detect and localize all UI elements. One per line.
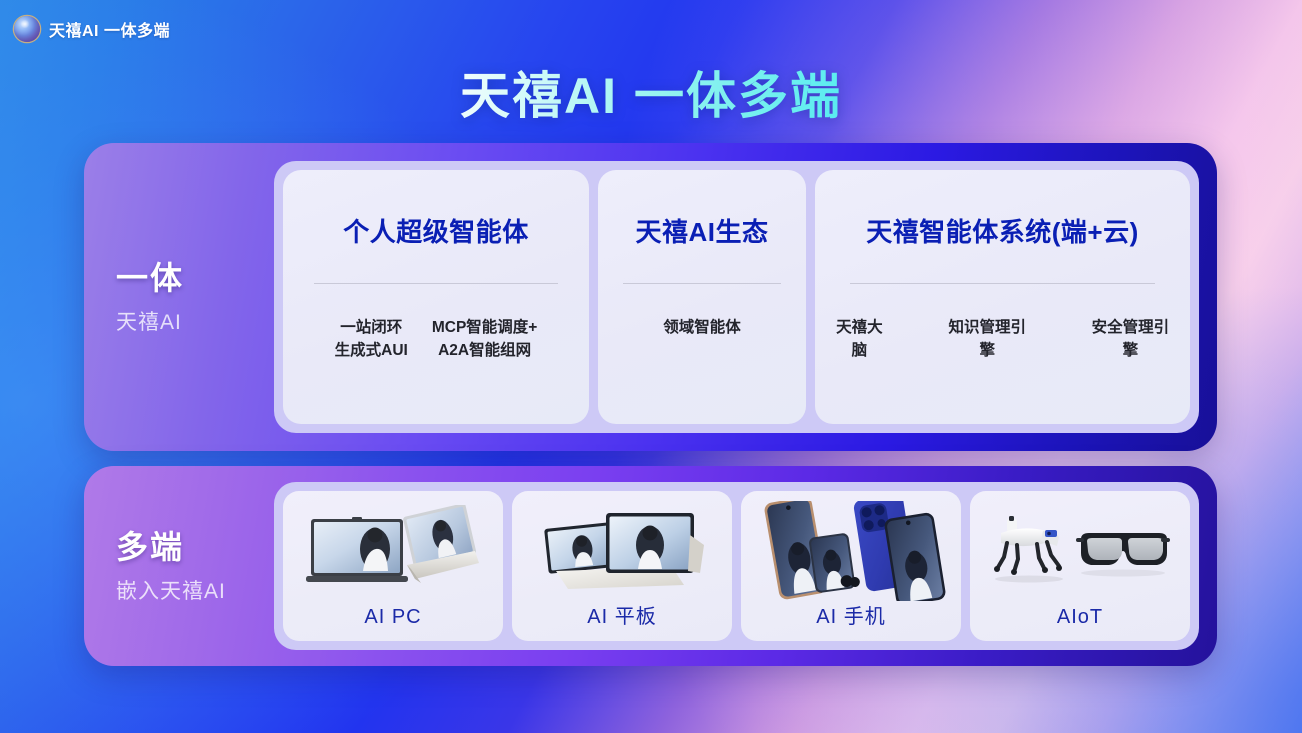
brand-name: 天禧AI 一体多端 (49, 17, 170, 41)
device-label: AI 平板 (587, 600, 656, 629)
robot-dog-and-glasses-image (970, 501, 1190, 601)
card-title: 个人超级智能体 (343, 212, 529, 249)
card-title: 天禧智能体系统(端+云) (866, 212, 1139, 249)
section-label-multi-device: 多端 嵌入天禧AI (84, 527, 274, 605)
card-agent-system[interactable]: 天禧智能体系统(端+云) 天禧大脑 知识管理引擎 安全管理引擎 (815, 170, 1190, 424)
slide-canvas: 天禧AI 一体多端 天禧AI 一体多端 一体 天禧AI 个人超级智能体 一站闭环… (0, 0, 1302, 733)
card-item: 一站闭环 生成式AUI (335, 316, 408, 363)
card-title: 天禧AI生态 (635, 212, 768, 249)
card-item: 知识管理引擎 (942, 316, 1033, 363)
phone-group-image (741, 501, 961, 601)
card-item: 安全管理引擎 (1085, 316, 1176, 363)
device-card-ai-phone[interactable]: AI 手机 (741, 491, 961, 641)
card-personal-super-agent[interactable]: 个人超级智能体 一站闭环 生成式AUI MCP智能调度+ A2A智能组网 (283, 170, 589, 424)
device-label: AIoT (1057, 606, 1103, 629)
section-label-unified: 一体 天禧AI (84, 258, 274, 336)
tablet-pair-image (512, 501, 732, 601)
device-label: AI 手机 (816, 600, 885, 629)
page-title: 天禧AI 一体多端 (0, 56, 1302, 128)
device-label: AI PC (364, 606, 421, 629)
section-label-sub: 天禧AI (116, 306, 274, 336)
section-panel-multi-device: 多端 嵌入天禧AI (84, 466, 1217, 666)
device-card-ai-tablet[interactable]: AI 平板 (512, 491, 732, 641)
section-label-sub: 嵌入天禧AI (116, 575, 274, 605)
card-divider (850, 283, 1155, 284)
laptop-pair-image (283, 501, 503, 601)
cards-container-multi-device: AI PC (274, 482, 1199, 650)
device-card-aiot[interactable]: AIoT (970, 491, 1190, 641)
card-items: 领域智能体 (612, 316, 792, 339)
brand-logo: 天禧AI 一体多端 (14, 16, 170, 42)
card-divider (623, 283, 781, 284)
card-item: 领域智能体 (663, 316, 741, 339)
card-divider (314, 283, 559, 284)
card-items: 天禧大脑 知识管理引擎 安全管理引擎 (829, 316, 1176, 363)
card-item: MCP智能调度+ A2A智能组网 (432, 316, 538, 363)
orb-logo-icon (14, 16, 40, 42)
device-card-ai-pc[interactable]: AI PC (283, 491, 503, 641)
section-label-main: 一体 (116, 258, 274, 298)
section-label-main: 多端 (116, 527, 274, 567)
section-panel-unified: 一体 天禧AI 个人超级智能体 一站闭环 生成式AUI MCP智能调度+ A2A… (84, 143, 1217, 451)
card-items: 一站闭环 生成式AUI MCP智能调度+ A2A智能组网 (297, 316, 575, 363)
cards-container-unified: 个人超级智能体 一站闭环 生成式AUI MCP智能调度+ A2A智能组网 天禧A… (274, 161, 1199, 433)
card-tianxi-ai-ecosystem[interactable]: 天禧AI生态 领域智能体 (598, 170, 806, 424)
card-item: 天禧大脑 (829, 316, 890, 363)
